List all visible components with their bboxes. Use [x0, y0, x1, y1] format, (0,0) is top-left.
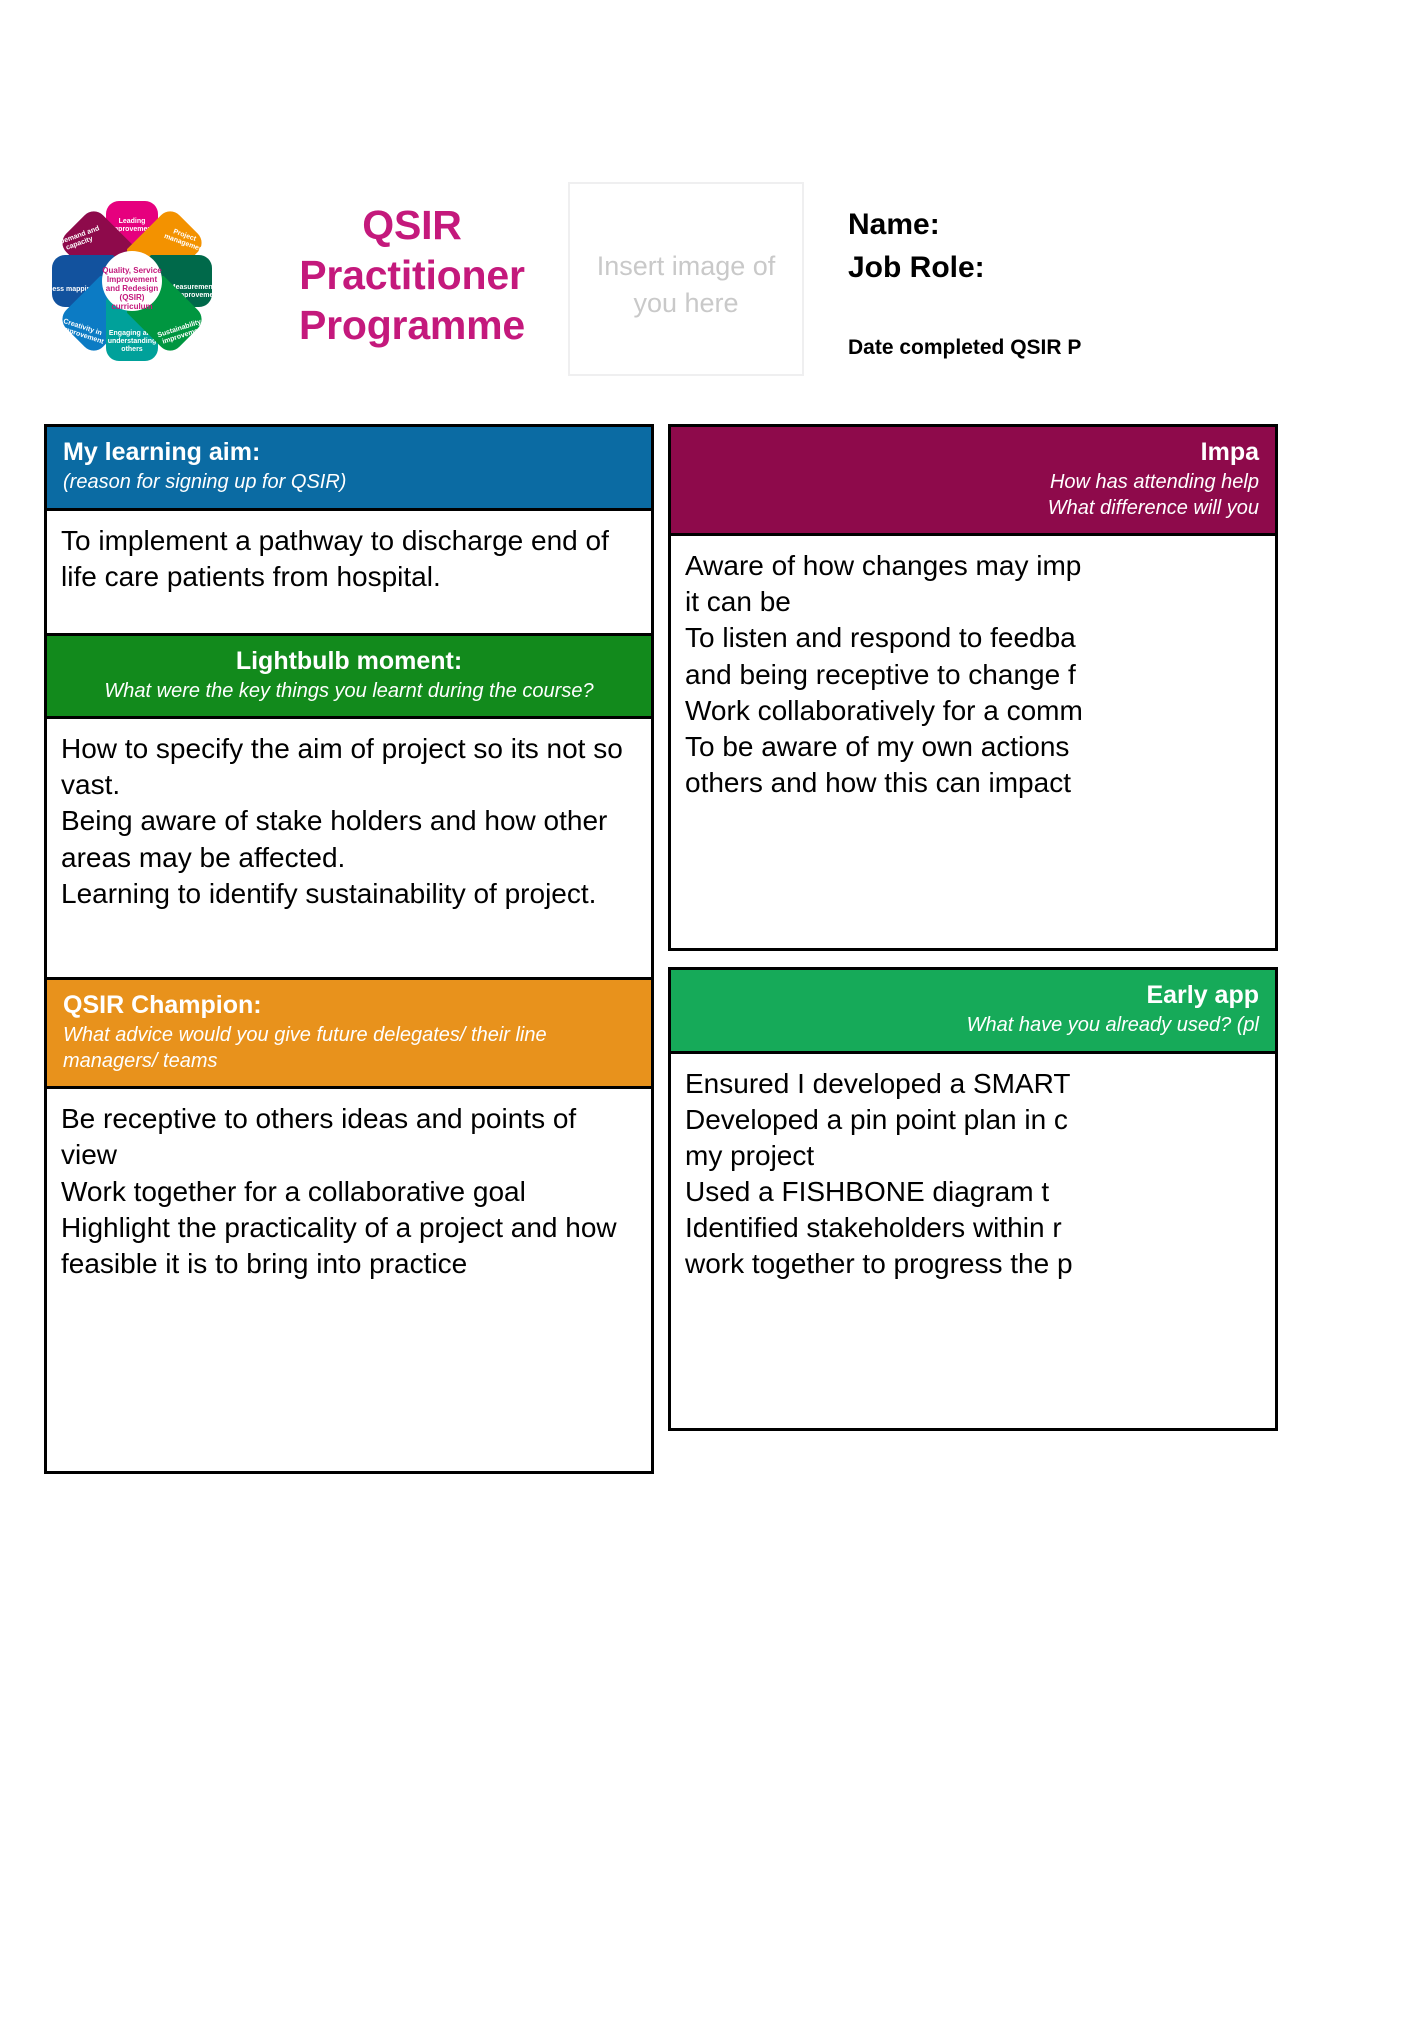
panel-subtitle-lightbulb-moment: What were the key things you learnt duri… [63, 679, 635, 705]
qsir-curriculum-logo: Leading improvement Demand and capacity … [36, 183, 228, 379]
panel-header-early-application: Early app What have you already used? (p… [671, 970, 1275, 1051]
panel-header-lightbulb-moment: Lightbulb moment: What were the key thin… [47, 636, 651, 717]
photo-placeholder-label: Insert image of you here [570, 248, 802, 321]
photo-placeholder-box[interactable]: Insert image of you here [568, 182, 804, 376]
panel-subtitle-early-application: What have you already used? (pl [687, 1013, 1259, 1039]
name-label: Name: [848, 204, 1408, 247]
panel-impact: Impa How has attending help What differe… [668, 424, 1278, 951]
panel-subtitle-learning-aim: (reason for signing up for QSIR) [63, 470, 635, 496]
svg-text:curriculum: curriculum [111, 302, 152, 311]
date-completed-label: Date completed QSIR P [848, 336, 1081, 360]
panel-title-qsir-champion: QSIR Champion: [63, 990, 635, 1020]
panel-header-qsir-champion: QSIR Champion: What advice would you giv… [47, 980, 651, 1086]
panel-body-early-application[interactable]: Ensured I developed a SMART Developed a … [671, 1051, 1275, 1428]
panel-body-lightbulb-moment[interactable]: How to specify the aim of project so its… [47, 716, 651, 977]
panel-subtitle-qsir-champion: What advice would you give future delega… [63, 1023, 635, 1074]
panel-subtitle-impact: How has attending help What difference w… [687, 470, 1259, 521]
svg-text:others: others [121, 346, 143, 353]
svg-text:understanding: understanding [108, 338, 157, 345]
programme-title: QSIR Practitioner Programme [262, 200, 562, 350]
panel-lightbulb-moment: Lightbulb moment: What were the key thin… [44, 636, 654, 981]
svg-text:and Redesign: and Redesign [106, 284, 159, 293]
page-header: Leading improvement Demand and capacity … [0, 0, 1428, 400]
svg-text:Leading: Leading [119, 218, 146, 225]
identity-block: Name: Job Role: [848, 204, 1408, 290]
right-column: Impa How has attending help What differe… [668, 424, 1278, 1431]
job-role-label: Job Role: [848, 247, 1408, 290]
panel-body-impact[interactable]: Aware of how changes may imp it can be T… [671, 533, 1275, 948]
panel-title-lightbulb-moment: Lightbulb moment: [63, 646, 635, 676]
svg-text:(QSIR): (QSIR) [120, 293, 145, 302]
panel-title-learning-aim: My learning aim: [63, 437, 635, 467]
panel-learning-aim: My learning aim: (reason for signing up … [44, 424, 654, 636]
panel-body-learning-aim[interactable]: To implement a pathway to discharge end … [47, 508, 651, 633]
left-column: My learning aim: (reason for signing up … [44, 424, 654, 1474]
panel-qsir-champion: QSIR Champion: What advice would you giv… [44, 980, 654, 1474]
panel-header-impact: Impa How has attending help What differe… [671, 427, 1275, 533]
panel-body-qsir-champion[interactable]: Be receptive to others ideas and points … [47, 1086, 651, 1471]
panel-early-application: Early app What have you already used? (p… [668, 967, 1278, 1431]
panel-header-learning-aim: My learning aim: (reason for signing up … [47, 427, 651, 508]
svg-text:Improvement: Improvement [107, 275, 158, 284]
panel-title-impact: Impa [687, 437, 1259, 467]
svg-text:Quality, Service: Quality, Service [102, 266, 162, 275]
qsir-flower-icon: Leading improvement Demand and capacity … [36, 183, 228, 379]
svg-text:Measurement for: Measurement for [170, 284, 227, 291]
panel-title-early-application: Early app [687, 980, 1259, 1010]
